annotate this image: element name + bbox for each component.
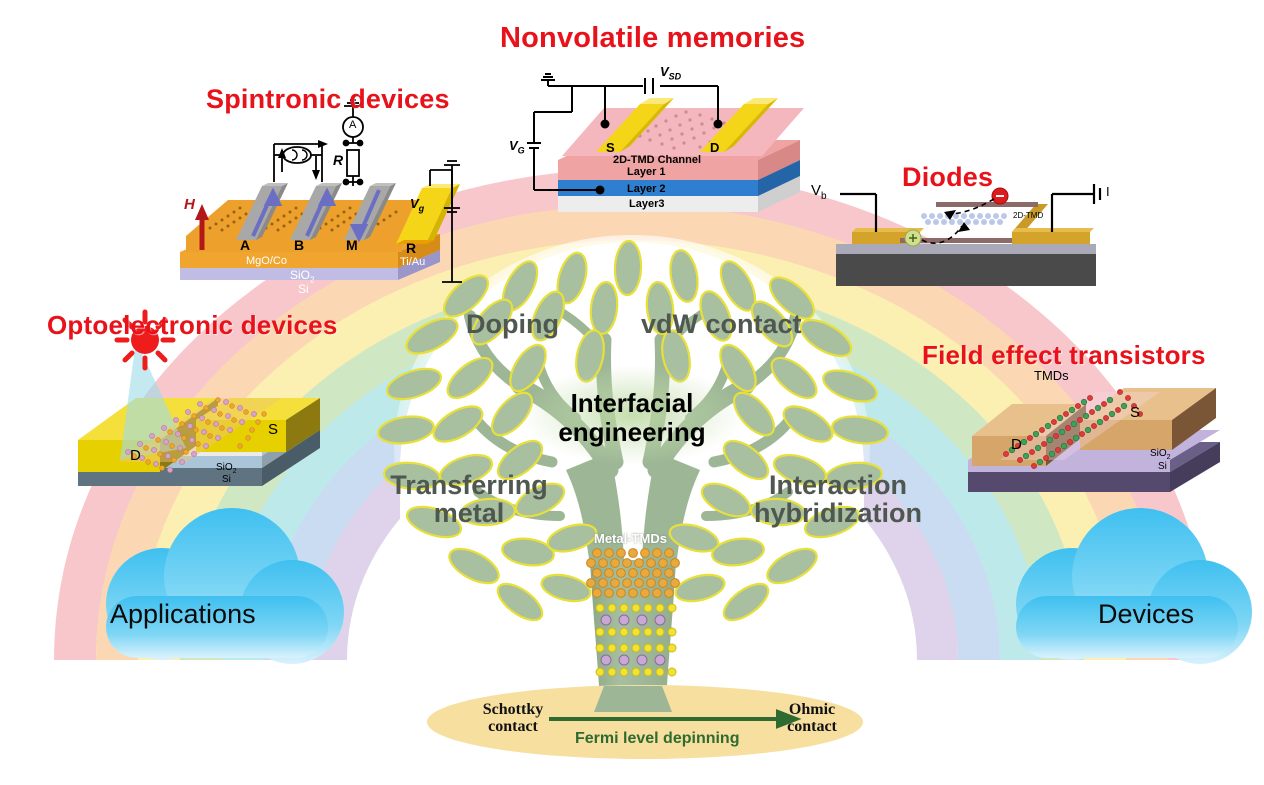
fet-drain-label: D xyxy=(1011,436,1022,453)
figure-canvas: Doping vdW contact Transferringmetal Int… xyxy=(0,0,1264,785)
title-diodes: Diodes xyxy=(902,162,993,193)
title-nonvolatile-memories: Nonvolatile memories xyxy=(500,22,805,55)
fet-sio2-label: SiO2 xyxy=(1150,448,1171,461)
device-fet xyxy=(0,0,1264,785)
title-field-effect-transistors: Field effect transistors xyxy=(922,340,1206,371)
title-spintronic-devices: Spintronic devices xyxy=(206,84,450,115)
fet-source-label: S xyxy=(1130,404,1140,421)
title-optoelectronic-devices: Optoelectronic devices xyxy=(47,310,338,341)
fet-si-label: Si xyxy=(1158,461,1167,472)
